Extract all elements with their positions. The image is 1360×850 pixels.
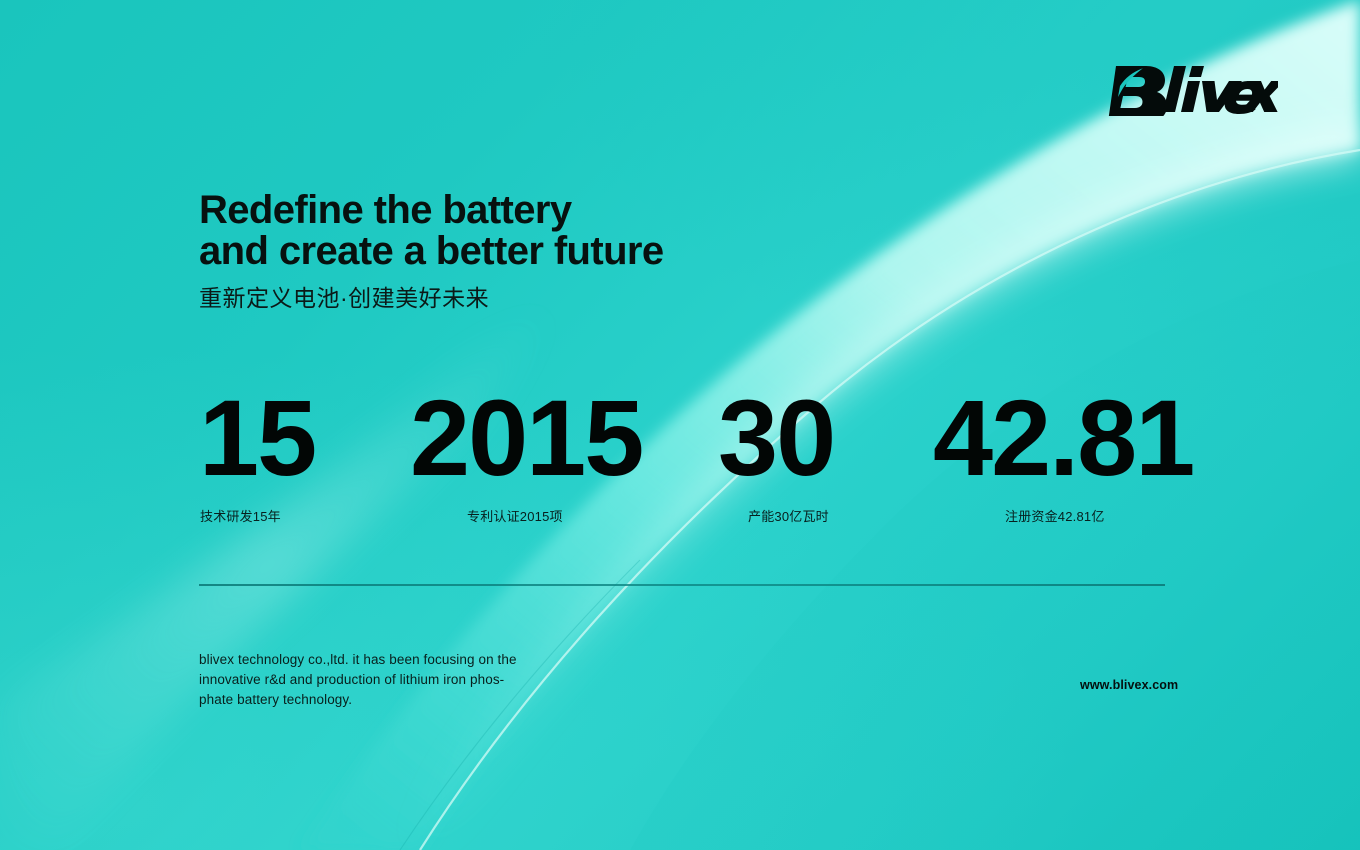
stat-item-4: 42.81 (933, 386, 1233, 486)
poster-canvas: Redefine the battery and create a better… (0, 0, 1360, 850)
headline-subtitle: 重新定义电池·创建美好未来 (199, 283, 489, 313)
stat-item-2: 2015 (410, 386, 670, 486)
stat-item-3: 30 (718, 386, 918, 486)
stat-value: 42.81 (933, 390, 1193, 486)
headline-line-1: Redefine the battery (199, 190, 919, 231)
company-description: blivex technology co.,ltd. it has been f… (199, 650, 499, 710)
stat-label: 技术研发15年 (200, 509, 281, 525)
stat-value: 30 (718, 390, 834, 486)
headline-line-2: and create a better future (199, 231, 919, 272)
website-url[interactable]: www.blivex.com (1080, 678, 1178, 692)
stat-label: 注册资金42.81亿 (1005, 509, 1105, 525)
stat-label: 专利认证2015项 (467, 509, 563, 525)
blivex-logo-icon (1102, 62, 1278, 116)
stat-label: 产能30亿瓦时 (748, 509, 829, 525)
stat-item-1: 15 (199, 386, 439, 486)
stat-value: 2015 (410, 390, 642, 486)
description-line-3: phate battery technology. (199, 690, 499, 710)
horizontal-divider (199, 584, 1165, 586)
brand-logo[interactable] (1102, 62, 1278, 116)
description-line-1: blivex technology co.,ltd. it has been f… (199, 650, 499, 670)
page-title: Redefine the battery and create a better… (199, 190, 919, 272)
stat-value: 15 (199, 390, 315, 486)
description-line-2: innovative r&d and production of lithium… (199, 670, 499, 690)
